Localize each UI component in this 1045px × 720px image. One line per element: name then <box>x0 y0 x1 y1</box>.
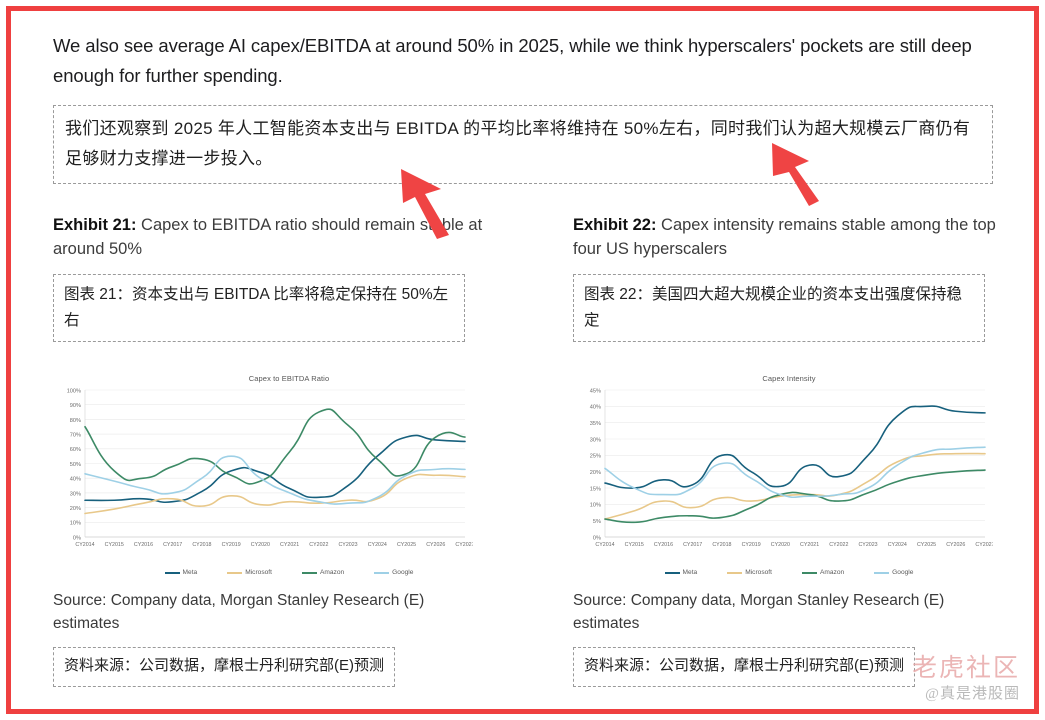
exhibit-21-source-chinese: 资料来源：公司数据，摩根士丹利研究部(E)预测 <box>64 655 384 678</box>
page-content: We also see average AI capex/EBITDA at a… <box>53 31 1005 713</box>
legend-swatch-meta <box>165 572 180 574</box>
chart-22-legend: MetaMicrosoftAmazonGoogle <box>573 569 1005 576</box>
svg-text:CY2026: CY2026 <box>946 542 965 548</box>
exhibit-22-title-chinese: 图表 22：美国四大超大规模企业的资本支出强度保持稳定 <box>584 282 974 333</box>
legend-item-google: Google <box>874 569 913 576</box>
red-page-border: We also see average AI capex/EBITDA at a… <box>6 6 1039 714</box>
exhibit-22-column: Exhibit 22: Capex intensity remains stab… <box>573 214 1005 686</box>
legend-label-amazon: Amazon <box>320 569 344 576</box>
svg-text:45%: 45% <box>590 389 601 395</box>
legend-item-microsoft: Microsoft <box>227 569 272 576</box>
svg-text:10%: 10% <box>590 503 601 509</box>
svg-text:CY2020: CY2020 <box>251 542 270 548</box>
svg-text:CY2015: CY2015 <box>105 542 124 548</box>
svg-text:CY2025: CY2025 <box>917 542 936 548</box>
capex-to-ebitda-ratio-plot: 0%10%20%30%40%50%60%70%80%90%100%CY2014C… <box>53 372 473 567</box>
svg-text:CY2027: CY2027 <box>975 542 993 548</box>
svg-text:CY2021: CY2021 <box>800 542 819 548</box>
svg-text:CY2023: CY2023 <box>338 542 357 548</box>
svg-text:0%: 0% <box>73 536 81 542</box>
exhibit-21-label: Exhibit 21: <box>53 216 136 234</box>
svg-text:CY2016: CY2016 <box>134 542 153 548</box>
exhibit-22-title: Exhibit 22: Capex intensity remains stab… <box>573 214 1005 261</box>
svg-text:15%: 15% <box>590 487 601 493</box>
intro-paragraph-chinese: 我们还观察到 2025 年人工智能资本支出与 EBITDA 的平均比率将维持在 … <box>65 114 981 175</box>
legend-label-microsoft: Microsoft <box>245 569 272 576</box>
svg-text:CY2024: CY2024 <box>888 542 907 548</box>
legend-swatch-google <box>374 572 389 574</box>
legend-item-meta: Meta <box>665 569 698 576</box>
exhibit-21-title-chinese: 图表 21：资本支出与 EBITDA 比率将稳定保持在 50%左右 <box>64 282 454 333</box>
legend-swatch-meta <box>665 572 680 574</box>
legend-item-amazon: Amazon <box>302 569 344 576</box>
svg-text:CY2018: CY2018 <box>192 542 211 548</box>
svg-text:70%: 70% <box>70 433 81 439</box>
legend-swatch-amazon <box>302 572 317 574</box>
svg-text:CY2014: CY2014 <box>75 542 94 548</box>
svg-text:30%: 30% <box>590 438 601 444</box>
legend-item-microsoft: Microsoft <box>727 569 772 576</box>
intro-translation-box: 我们还观察到 2025 年人工智能资本支出与 EBITDA 的平均比率将维持在 … <box>53 105 993 185</box>
svg-text:20%: 20% <box>70 506 81 512</box>
chart-21-legend: MetaMicrosoftAmazonGoogle <box>53 569 525 576</box>
exhibit-21-chart: Capex to EBITDA Ratio 0%10%20%30%40%50%6… <box>53 372 525 576</box>
legend-label-google: Google <box>892 569 913 576</box>
legend-item-meta: Meta <box>165 569 198 576</box>
svg-text:CY2017: CY2017 <box>683 542 702 548</box>
legend-item-google: Google <box>374 569 413 576</box>
legend-label-amazon: Amazon <box>820 569 844 576</box>
svg-text:CY2024: CY2024 <box>368 542 387 548</box>
exhibit-21-translation-box: 图表 21：资本支出与 EBITDA 比率将稳定保持在 50%左右 <box>53 274 465 342</box>
exhibit-22-translation-box: 图表 22：美国四大超大规模企业的资本支出强度保持稳定 <box>573 274 985 342</box>
watermark-primary: 老虎社区 <box>912 655 1020 683</box>
chart-22-title: Capex Intensity <box>573 374 1005 383</box>
chart-21-title: Capex to EBITDA Ratio <box>53 374 525 383</box>
svg-text:CY2016: CY2016 <box>654 542 673 548</box>
exhibit-22-source-chinese: 资料来源：公司数据，摩根士丹利研究部(E)预测 <box>584 655 904 678</box>
svg-text:CY2022: CY2022 <box>829 542 848 548</box>
svg-text:100%: 100% <box>67 389 81 395</box>
exhibit-21-source-box: 资料来源：公司数据，摩根士丹利研究部(E)预测 <box>53 647 395 687</box>
legend-swatch-amazon <box>802 572 817 574</box>
exhibit-22-source-english: Source: Company data, Morgan Stanley Res… <box>573 590 993 635</box>
svg-text:80%: 80% <box>70 418 81 424</box>
svg-text:40%: 40% <box>590 405 601 411</box>
svg-text:35%: 35% <box>590 421 601 427</box>
svg-text:CY2018: CY2018 <box>712 542 731 548</box>
svg-text:CY2026: CY2026 <box>426 542 445 548</box>
legend-label-meta: Meta <box>683 569 698 576</box>
legend-label-microsoft: Microsoft <box>745 569 772 576</box>
exhibit-21-column: Exhibit 21: Capex to EBITDA ratio should… <box>53 214 525 686</box>
legend-label-meta: Meta <box>183 569 198 576</box>
exhibit-22-label: Exhibit 22: <box>573 216 656 234</box>
watermark-handle: @真是港股圈 <box>912 682 1020 703</box>
svg-text:10%: 10% <box>70 521 81 527</box>
exhibit-22-source-box: 资料来源：公司数据，摩根士丹利研究部(E)预测 <box>573 647 915 687</box>
exhibit-21-title: Exhibit 21: Capex to EBITDA ratio should… <box>53 214 525 261</box>
exhibit-22-chart: Capex Intensity 0%5%10%15%20%25%30%35%40… <box>573 372 1005 576</box>
legend-swatch-google <box>874 572 889 574</box>
legend-swatch-microsoft <box>227 572 242 574</box>
svg-text:CY2023: CY2023 <box>858 542 877 548</box>
svg-text:90%: 90% <box>70 404 81 410</box>
capex-intensity-plot: 0%5%10%15%20%25%30%35%40%45%CY2014CY2015… <box>573 372 993 567</box>
legend-item-amazon: Amazon <box>802 569 844 576</box>
svg-text:20%: 20% <box>590 470 601 476</box>
svg-text:30%: 30% <box>70 492 81 498</box>
legend-label-google: Google <box>392 569 413 576</box>
svg-text:25%: 25% <box>590 454 601 460</box>
svg-text:CY2014: CY2014 <box>595 542 614 548</box>
svg-text:CY2020: CY2020 <box>771 542 790 548</box>
svg-text:60%: 60% <box>70 448 81 454</box>
svg-text:CY2019: CY2019 <box>742 542 761 548</box>
legend-swatch-microsoft <box>727 572 742 574</box>
svg-text:CY2022: CY2022 <box>309 542 328 548</box>
watermark: 老虎社区 @真是港股圈 <box>912 655 1020 704</box>
exhibit-21-source-english: Source: Company data, Morgan Stanley Res… <box>53 590 473 635</box>
exhibits-row: Exhibit 21: Capex to EBITDA ratio should… <box>53 214 1005 686</box>
svg-text:CY2027: CY2027 <box>455 542 473 548</box>
svg-text:CY2021: CY2021 <box>280 542 299 548</box>
svg-text:5%: 5% <box>593 519 601 525</box>
svg-text:CY2015: CY2015 <box>625 542 644 548</box>
svg-text:50%: 50% <box>70 462 81 468</box>
svg-text:CY2025: CY2025 <box>397 542 416 548</box>
intro-paragraph-english: We also see average AI capex/EBITDA at a… <box>53 31 1001 91</box>
svg-text:CY2019: CY2019 <box>222 542 241 548</box>
svg-text:0%: 0% <box>593 536 601 542</box>
svg-text:CY2017: CY2017 <box>163 542 182 548</box>
svg-text:40%: 40% <box>70 477 81 483</box>
